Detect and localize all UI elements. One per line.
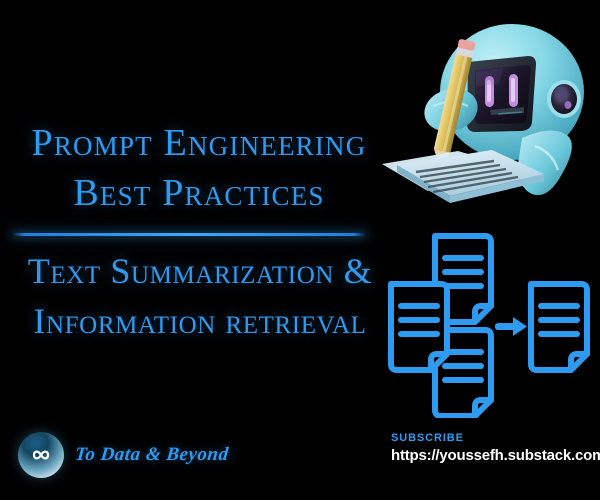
subscribe-block: SUBSCRIBE https://youssefh.substack.com/ [391, 432, 600, 464]
document-summarization-icon [383, 232, 596, 418]
brand-logo: To Data & Beyond [18, 432, 229, 478]
subheadline-line-2: Information retrieval [0, 296, 400, 346]
poster-canvas: Prompt Engineering Best Practices Text S… [0, 0, 600, 500]
headline-line-1: Prompt Engineering [0, 118, 398, 168]
headline: Prompt Engineering Best Practices [0, 118, 398, 218]
subscribe-label: SUBSCRIBE [391, 432, 600, 444]
headline-line-2: Best Practices [0, 168, 398, 218]
arrow-right-icon [495, 317, 527, 336]
infinity-icon [18, 432, 64, 478]
section-divider [10, 233, 368, 236]
subheadline-line-1: Text Summarization & [0, 246, 400, 296]
brand-name: To Data & Beyond [74, 444, 230, 466]
subscribe-url[interactable]: https://youssefh.substack.com/ [391, 447, 600, 464]
subheadline: Text Summarization & Information retriev… [0, 246, 400, 346]
robot-writing-illustration [372, 14, 598, 220]
